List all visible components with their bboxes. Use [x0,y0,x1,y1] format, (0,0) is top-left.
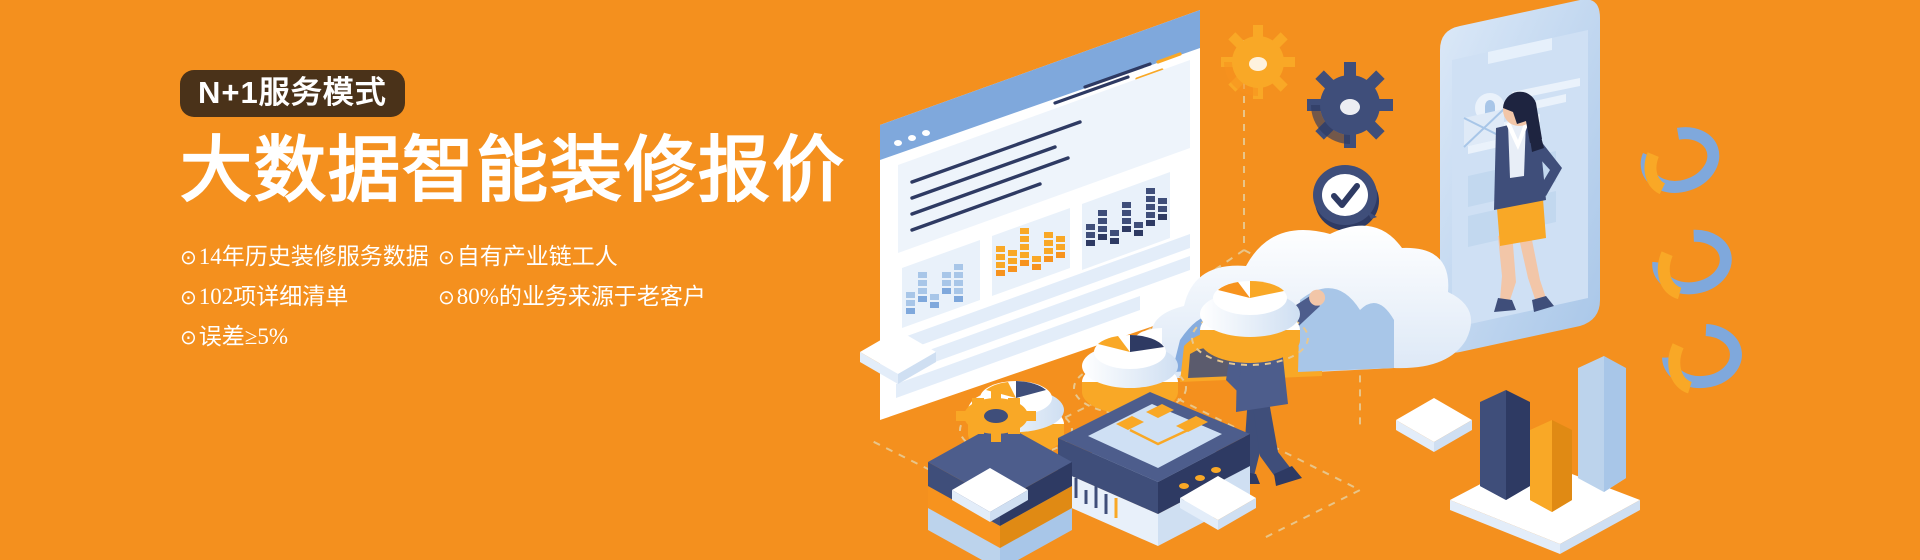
list-item-label: 误差≥5% [199,324,288,349]
bullet-dot-icon: ⊙ [180,285,197,309]
check-badge-icon [1313,165,1379,231]
bullet-dot-icon: ⊙ [180,325,197,349]
list-item-label: 102项详细清单 [199,284,349,309]
donut-ring-bottom [1664,314,1741,398]
bar-chart-3d [1450,356,1640,554]
page-title: 大数据智能装修报价 [180,135,880,207]
big-data-illustration [840,0,1920,560]
navy-gear-icon [1307,62,1393,148]
list-item: ⊙102项详细清单 [180,277,438,317]
list-item-label: 80%的业务来源于老客户 [457,284,706,309]
floating-tile-right [1396,398,1472,452]
donut-ring-top [1638,117,1722,203]
list-item: ⊙自有产业链工人 [438,237,698,277]
service-mode-badge: N+1服务模式 [180,70,405,117]
list-item-label: 14年历史装修服务数据 [199,244,429,269]
orange-gear-icon [1221,25,1295,99]
list-item: ⊙误差≥5% [180,317,438,357]
promo-banner: N+1服务模式 大数据智能装修报价 ⊙14年历史装修服务数据 ⊙102项详细清单… [0,0,1920,560]
bullet-dot-icon: ⊙ [438,285,455,309]
text-block: N+1服务模式 大数据智能装修报价 ⊙14年历史装修服务数据 ⊙102项详细清单… [180,70,880,357]
bullet-dot-icon: ⊙ [438,245,455,269]
bullet-column-right: ⊙自有产业链工人 ⊙80%的业务来源于老客户 [438,237,698,357]
donut-ring-middle [1652,220,1731,305]
bullet-dot-icon: ⊙ [180,245,197,269]
list-item-label: 自有产业链工人 [457,244,618,269]
list-item: ⊙80%的业务来源于老客户 [438,277,698,317]
bullet-column-left: ⊙14年历史装修服务数据 ⊙102项详细清单 ⊙误差≥5% [180,237,438,357]
feature-bullets: ⊙14年历史装修服务数据 ⊙102项详细清单 ⊙误差≥5% ⊙自有产业链工人 ⊙… [180,237,880,357]
list-item: ⊙14年历史装修服务数据 [180,237,438,277]
